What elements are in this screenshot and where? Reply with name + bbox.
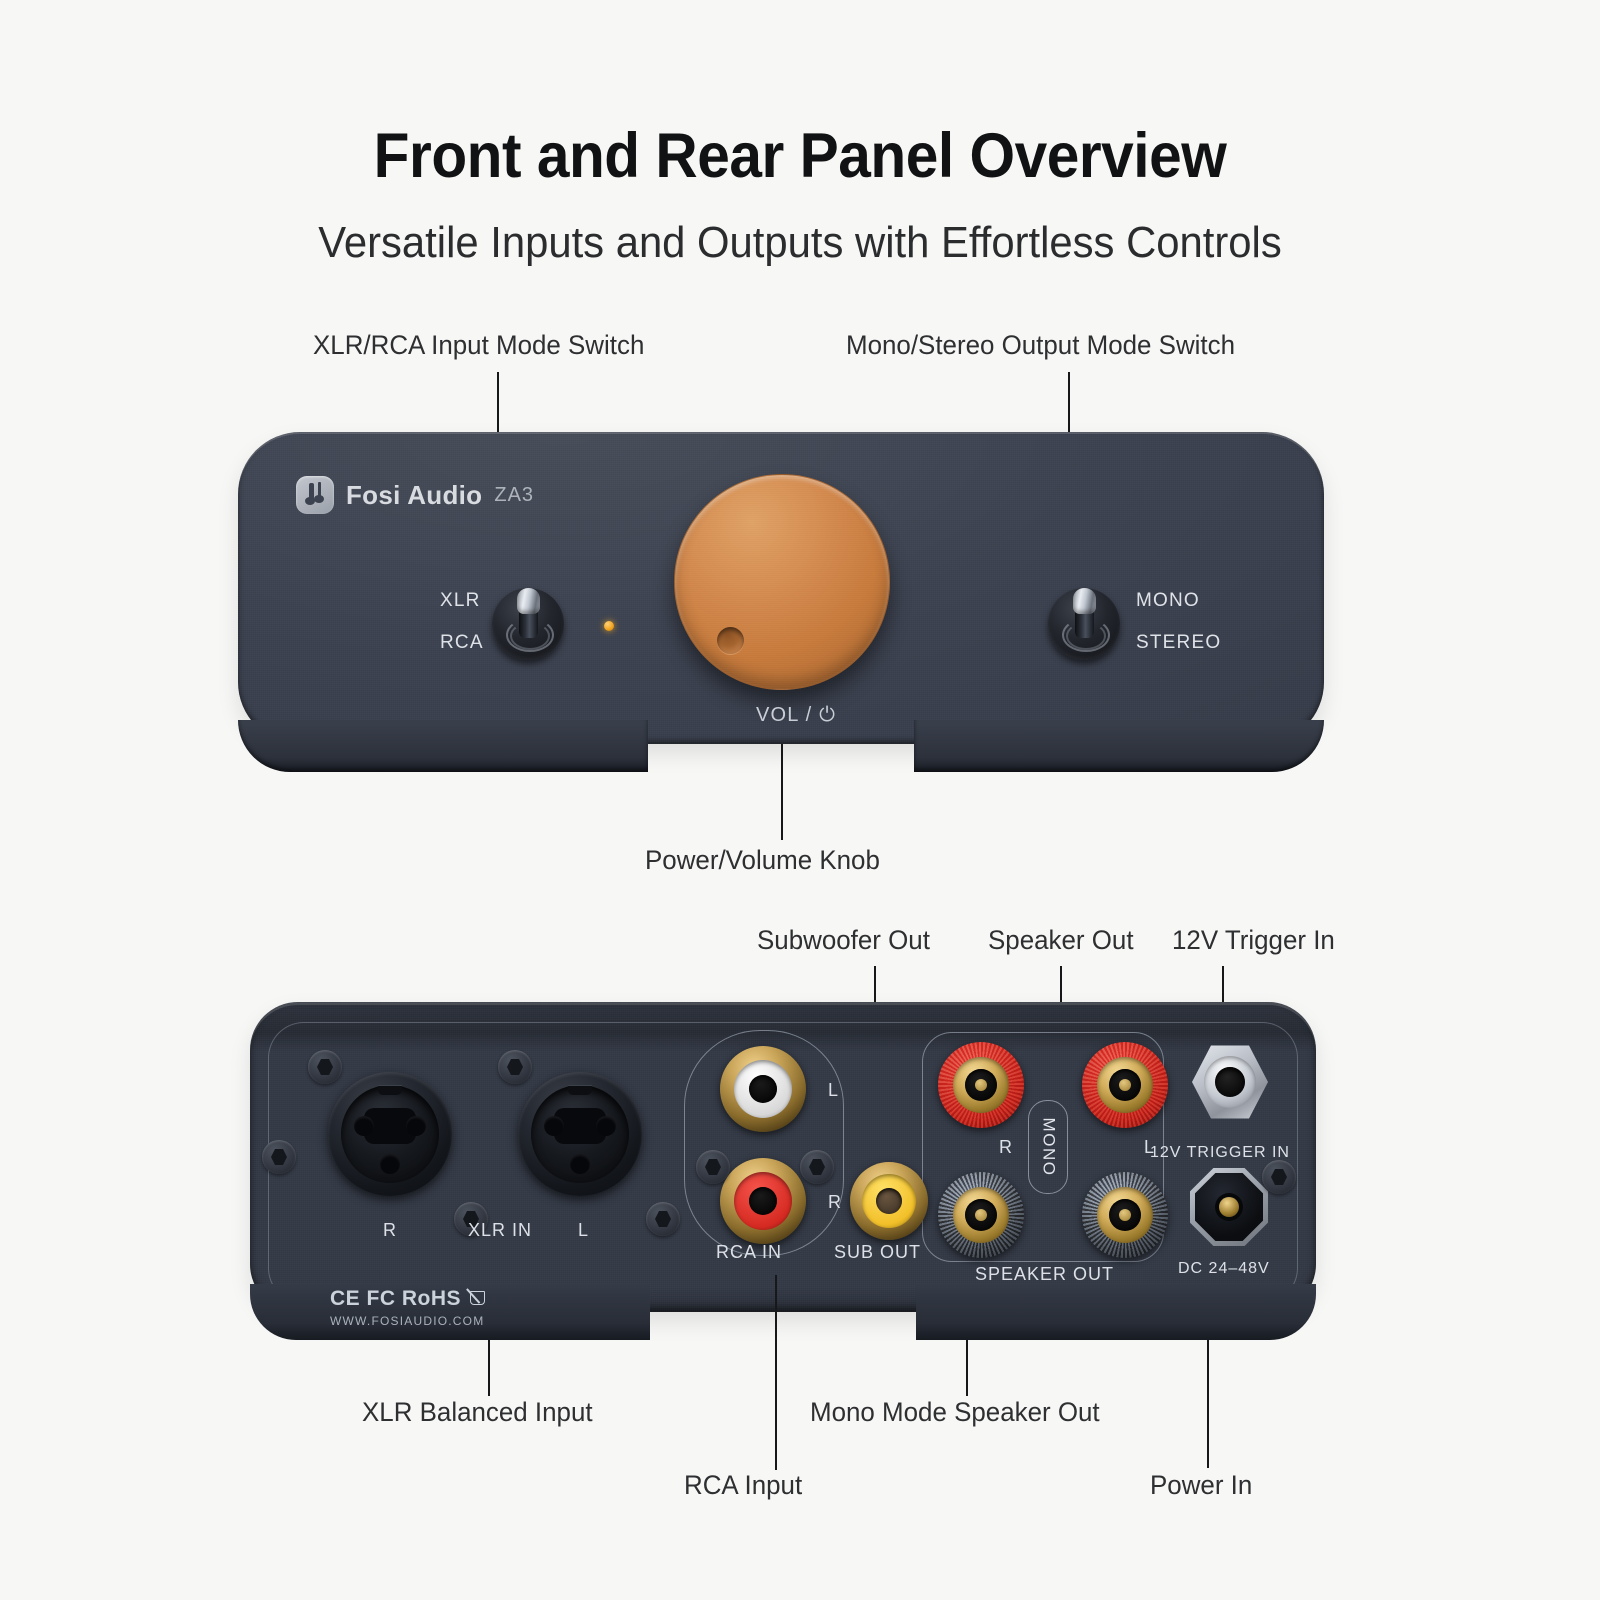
speaker-right-channel-label: R: [999, 1137, 1013, 1158]
mono-label: MONO: [1038, 1118, 1058, 1177]
dc-power-label: DC 24–48V: [1178, 1260, 1270, 1278]
mono-mode-indicator: MONO: [1028, 1100, 1068, 1194]
rca-in-section-label: RCA IN: [716, 1242, 782, 1263]
speaker-post-left-negative[interactable]: [1082, 1172, 1168, 1258]
switch-label-mono: MONO: [1136, 590, 1200, 612]
page-title: Front and Rear Panel Overview: [56, 120, 1544, 192]
xlr-rca-toggle-switch[interactable]: [492, 588, 564, 660]
switch-label-rca: RCA: [440, 632, 484, 654]
hex-screw-icon: [800, 1150, 834, 1184]
weee-bin-icon: [468, 1289, 485, 1310]
rca-jack-right-input[interactable]: [720, 1158, 806, 1244]
cert-marks-text: CE FC RoHS: [330, 1287, 461, 1311]
speaker-post-left-positive[interactable]: [1082, 1042, 1168, 1128]
rear-panel: R XLR IN L L R RCA IN SUB OUT: [250, 1002, 1316, 1312]
mono-stereo-toggle-switch[interactable]: [1048, 588, 1120, 660]
callout-subwoofer-out: Subwoofer Out: [757, 925, 930, 956]
front-chassis-step: [238, 720, 1324, 772]
callout-power-in: Power In: [1150, 1470, 1252, 1501]
sub-out-section-label: SUB OUT: [834, 1242, 921, 1263]
xlr-left-channel-label: L: [578, 1220, 589, 1241]
callout-xlr-balanced-input: XLR Balanced Input: [362, 1397, 593, 1428]
12v-trigger-in-label: 12V TRIGGER IN: [1150, 1144, 1290, 1162]
rca-left-channel-label: L: [828, 1080, 839, 1101]
dc-power-in-jack[interactable]: [1190, 1168, 1268, 1246]
hex-screw-icon: [646, 1202, 680, 1236]
volume-knob-label: VOL / ⏻: [756, 704, 836, 727]
hex-screw-icon: [696, 1150, 730, 1184]
front-panel: Fosi Audio ZA3 XLR RCA VOL / ⏻: [238, 432, 1324, 748]
rca-right-channel-label: R: [828, 1192, 842, 1213]
power-volume-knob[interactable]: [674, 474, 890, 690]
brand-logo: Fosi Audio ZA3: [296, 476, 534, 514]
hex-screw-icon: [308, 1050, 342, 1084]
diagram-canvas: Front and Rear Panel Overview Versatile …: [0, 0, 1600, 1600]
callout-12v-trigger-in: 12V Trigger In: [1172, 925, 1335, 956]
leader-line-power-in: [1207, 1340, 1209, 1468]
hex-screw-icon: [262, 1140, 296, 1174]
hex-screw-icon: [498, 1050, 532, 1084]
callout-speaker-out: Speaker Out: [988, 925, 1134, 956]
callout-rca-input: RCA Input: [684, 1470, 802, 1501]
knob-indicator-dimple: [717, 627, 744, 654]
certification-marks: CE FC RoHS WWW.FOSIAUDIO.COM: [330, 1287, 485, 1328]
xlr-jack-left[interactable]: [518, 1072, 642, 1196]
leader-line-mono-mode-speaker-out: [966, 1340, 968, 1396]
callout-mono-stereo-output-mode-switch: Mono/Stereo Output Mode Switch: [846, 330, 1235, 361]
website-text: WWW.FOSIAUDIO.COM: [330, 1314, 485, 1328]
callout-power-volume-knob: Power/Volume Knob: [645, 845, 880, 876]
xlr-jack-right[interactable]: [328, 1072, 452, 1196]
rca-jack-left-input[interactable]: [720, 1046, 806, 1132]
switch-label-stereo: STEREO: [1136, 632, 1221, 654]
hex-screw-icon: [1262, 1160, 1296, 1194]
brand-name: Fosi Audio: [346, 480, 482, 511]
12v-trigger-in-jack[interactable]: [1192, 1044, 1268, 1120]
xlr-right-channel-label: R: [383, 1220, 397, 1241]
xlr-in-section-label: XLR IN: [468, 1220, 532, 1241]
subwoofer-out-jack[interactable]: [850, 1162, 928, 1240]
switch-label-xlr: XLR: [440, 590, 481, 612]
power-led-indicator: [604, 621, 614, 631]
callout-xlr-rca-input-mode-switch: XLR/RCA Input Mode Switch: [313, 330, 644, 361]
callout-mono-mode-speaker-out: Mono Mode Speaker Out: [810, 1397, 1100, 1428]
speaker-post-right-negative[interactable]: [938, 1172, 1024, 1258]
page-subtitle: Versatile Inputs and Outputs with Effort…: [40, 218, 1560, 268]
leader-line-mono-stereo-switch: [1068, 372, 1070, 434]
fosi-music-note-icon: [296, 476, 334, 514]
leader-line-xlr-balanced-input: [488, 1340, 490, 1396]
brand-model: ZA3: [494, 484, 534, 507]
speaker-out-section-label: SPEAKER OUT: [975, 1264, 1114, 1285]
speaker-post-right-positive[interactable]: [938, 1042, 1024, 1128]
leader-line-xlr-rca-switch: [497, 372, 499, 434]
